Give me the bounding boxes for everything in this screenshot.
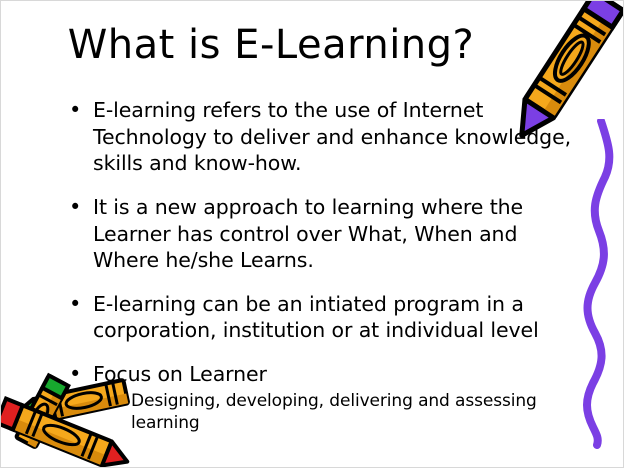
bullet-item: • E-learning refers to the use of Intern… xyxy=(61,97,581,177)
slide-body: • E-learning refers to the use of Intern… xyxy=(61,97,581,434)
bullet-marker-icon: • xyxy=(69,291,81,318)
bullet-marker-icon: • xyxy=(69,194,81,221)
bullet-text: E-learning refers to the use of Internet… xyxy=(93,98,571,175)
sub-bullet-item: – Designing, developing, delivering and … xyxy=(61,390,581,434)
presentation-slide: What is E-Learning? • E-learning refers … xyxy=(0,0,624,468)
sub-bullet-marker-icon: – xyxy=(106,390,115,412)
bullet-text: It is a new approach to learning where t… xyxy=(93,195,523,272)
bullet-item: • Focus on Learner xyxy=(61,361,581,388)
bullet-text: Focus on Learner xyxy=(93,362,267,386)
bullet-text: E-learning can be an intiated program in… xyxy=(93,292,539,343)
bullet-marker-icon: • xyxy=(69,361,81,388)
sub-bullet-text: Designing, developing, delivering and as… xyxy=(131,391,537,433)
bullet-item: • E-learning can be an intiated program … xyxy=(61,291,581,344)
bullet-marker-icon: • xyxy=(69,97,81,124)
slide-title: What is E-Learning? xyxy=(1,23,541,67)
bullet-item: • It is a new approach to learning where… xyxy=(61,194,581,274)
